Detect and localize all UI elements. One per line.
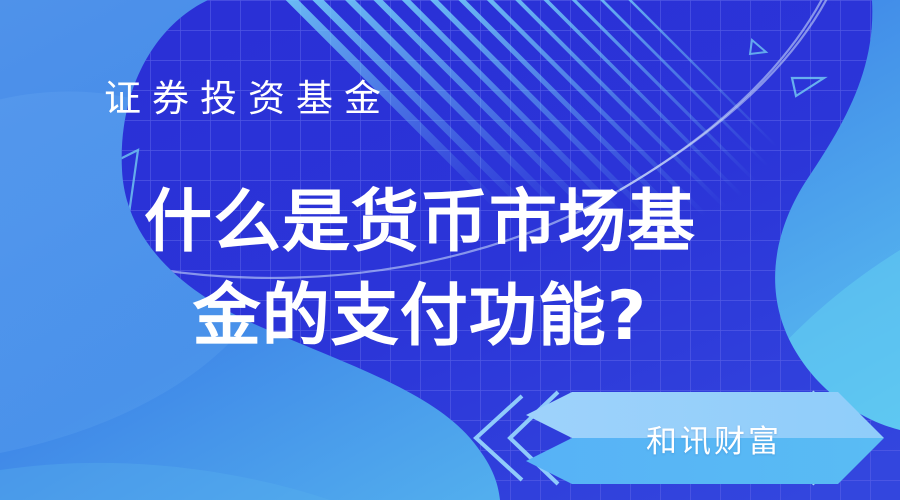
poster-canvas: 证券投资基金 什么是货币市场基 金的支付功能? 和讯财富	[0, 0, 900, 500]
brand-badge[interactable]: 和讯财富	[460, 386, 900, 490]
brand-badge-label: 和讯财富	[460, 386, 900, 490]
